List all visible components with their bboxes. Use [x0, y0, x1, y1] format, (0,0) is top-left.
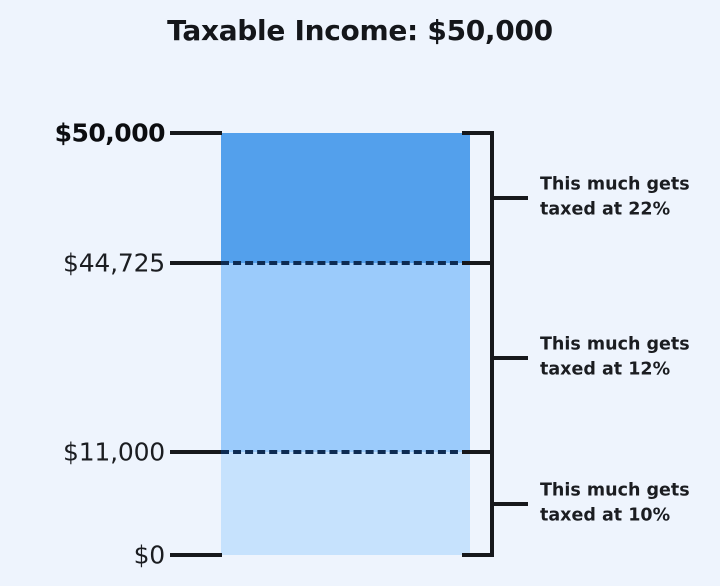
axis-label-50000: $50,000 — [55, 119, 165, 148]
annotation-22-line1: This much gets — [540, 173, 720, 198]
annotation-10-line2: taxed at 10% — [540, 504, 720, 529]
leader-line-44725 — [170, 261, 222, 265]
bracket-tick-10 — [492, 502, 528, 506]
divider-line-44725 — [221, 261, 470, 265]
annotation-10: This much gets taxed at 10% — [540, 479, 720, 530]
tax-bracket-chart: Taxable Income: $50,000 $50,000 $44,725 … — [0, 0, 720, 586]
bracket-cap-11000 — [462, 450, 494, 454]
bracket-cap-44725 — [462, 261, 494, 265]
bar-segment-10 — [221, 452, 470, 555]
annotation-12-line2: taxed at 12% — [540, 358, 720, 383]
plot-area: $50,000 $44,725 $11,000 $0 This much get… — [0, 0, 720, 586]
leader-line-50000 — [170, 131, 222, 135]
leader-line-0 — [170, 553, 222, 557]
axis-label-44725: $44,725 — [63, 249, 165, 278]
annotation-10-line1: This much gets — [540, 479, 720, 504]
leader-line-11000 — [170, 450, 222, 454]
axis-label-0: $0 — [134, 541, 165, 570]
annotation-12-line1: This much gets — [540, 333, 720, 358]
bracket-tick-22 — [492, 196, 528, 200]
annotation-22: This much gets taxed at 22% — [540, 173, 720, 224]
bracket-tick-12 — [492, 356, 528, 360]
bar-segment-12 — [221, 263, 470, 452]
annotation-12: This much gets taxed at 12% — [540, 333, 720, 384]
axis-label-11000: $11,000 — [63, 438, 165, 467]
bracket-cap-bottom — [462, 553, 494, 557]
bar-segment-22 — [221, 133, 470, 263]
divider-line-11000 — [221, 450, 470, 454]
annotation-22-line2: taxed at 22% — [540, 198, 720, 223]
bracket-cap-top — [462, 131, 494, 135]
